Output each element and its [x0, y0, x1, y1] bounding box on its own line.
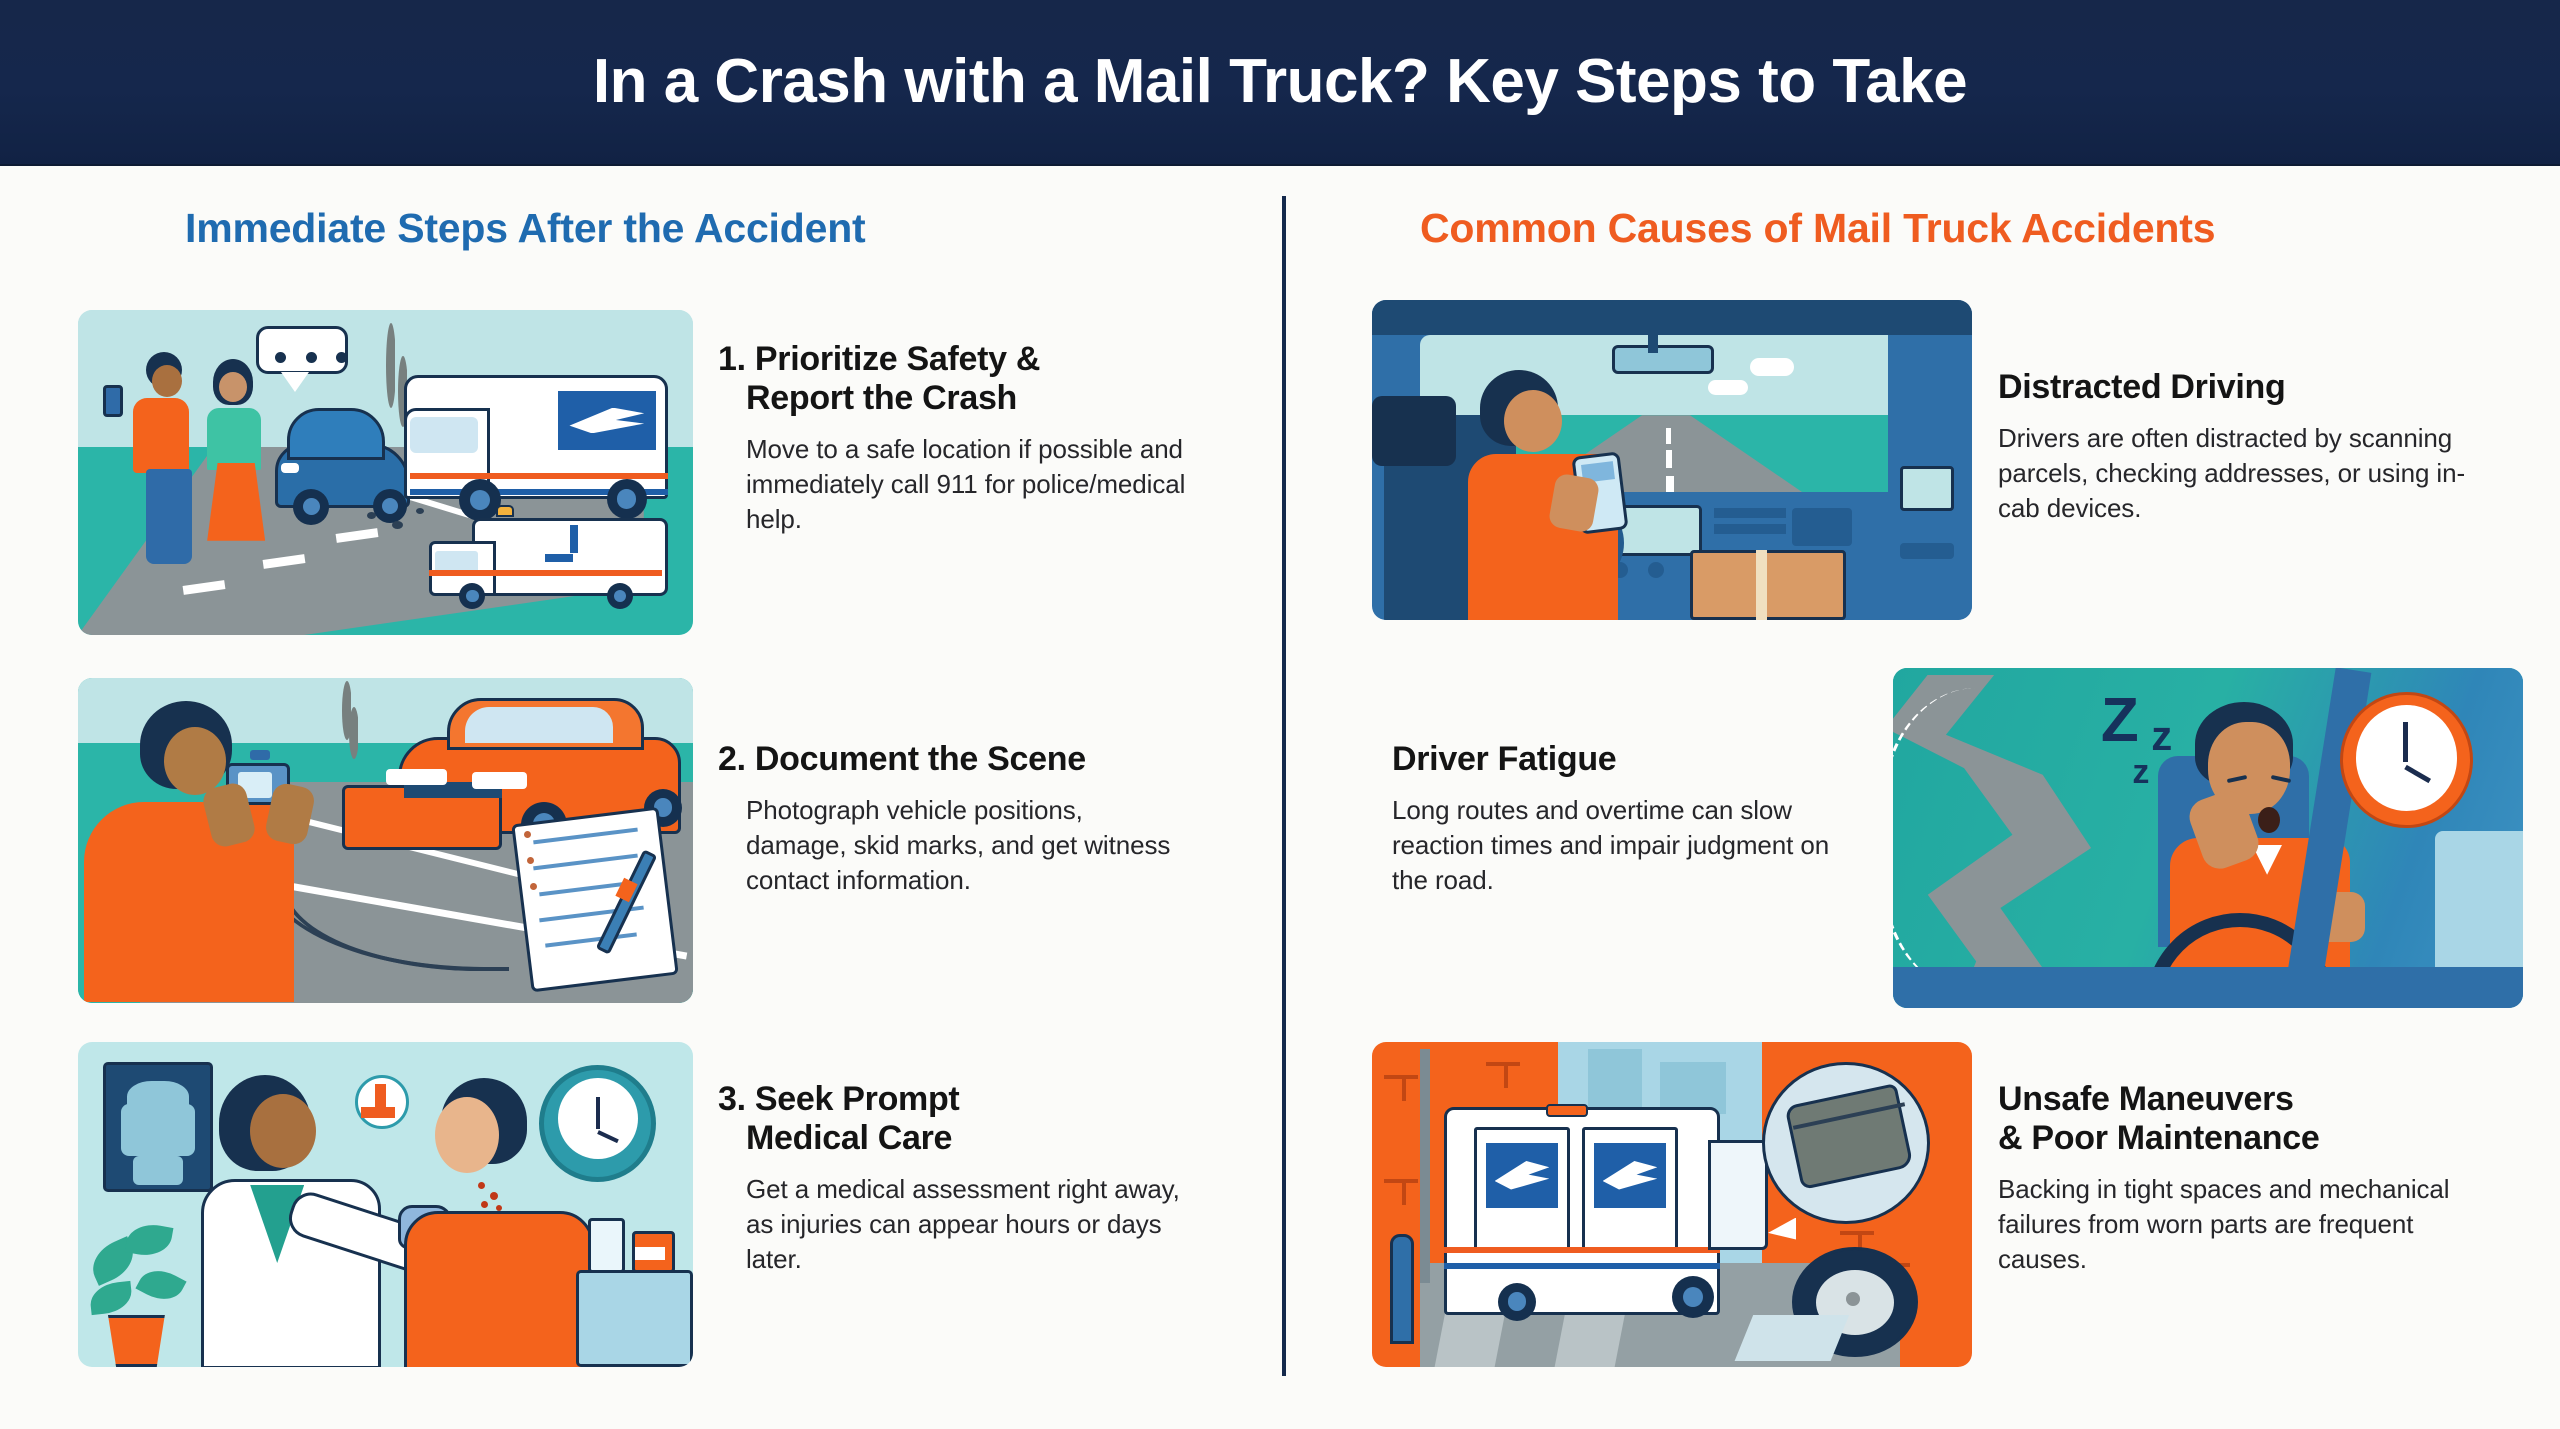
left-item-3-text: 3. Seek Prompt Medical Care Get a medica… [718, 1080, 1188, 1278]
page-title: In a Crash with a Mail Truck? Key Steps … [593, 51, 1967, 113]
right-item-1-text: Distracted Driving Drivers are often dis… [1998, 368, 2498, 527]
right-item-3-title-line2: & Poor Maintenance [1998, 1119, 2319, 1157]
right-item-3-body: Backing in tight spaces and mechanical f… [1998, 1172, 2498, 1278]
illustration-medical-care [78, 1042, 693, 1367]
illustration-crash-scene [78, 310, 693, 635]
column-divider [1282, 196, 1286, 1376]
right-item-2-text: Driver Fatigue Long routes and overtime … [1392, 740, 1862, 899]
right-item-3-title-line1: Unsafe Maneuvers [1998, 1080, 2294, 1118]
usps-eagle-logo-rear-right [1594, 1143, 1666, 1208]
illustration-unsafe-maneuvers [1372, 1042, 1972, 1367]
left-item-3-title-line1: 3. Seek Prompt [718, 1080, 959, 1118]
usps-eagle-logo-rear-left [1486, 1143, 1558, 1208]
left-item-1-body: Move to a safe location if possible and … [718, 432, 1188, 538]
sleep-z-large: Z [2101, 685, 2139, 756]
right-column-heading: Common Causes of Mail Truck Accidents [1420, 205, 2215, 252]
sleep-z-medium: z [2151, 712, 2172, 760]
illustration-driver-fatigue: Z z z [1893, 668, 2523, 1008]
left-item-2-text: 2. Document the Scene Photograph vehicle… [718, 740, 1188, 899]
illustration-document-scene [78, 678, 693, 1003]
sleep-z-small: z [2132, 753, 2149, 792]
left-item-2-body: Photograph vehicle positions, damage, sk… [718, 793, 1188, 899]
right-item-1-title-line1: Distracted Driving [1998, 368, 2285, 406]
left-item-1-text: 1. Prioritize Safety & Report the Crash … [718, 340, 1188, 538]
left-item-3-body: Get a medical assessment right away, as … [718, 1172, 1188, 1278]
left-item-3-title-line2: Medical Care [718, 1119, 952, 1157]
speech-bubble-icon [256, 326, 348, 374]
left-item-1-title-line1: 1. Prioritize Safety & [718, 340, 1040, 378]
infographic-page: In a Crash with a Mail Truck? Key Steps … [0, 0, 2560, 1429]
page-header: In a Crash with a Mail Truck? Key Steps … [0, 0, 2560, 166]
illustration-distracted-driving [1372, 300, 1972, 620]
left-column-heading: Immediate Steps After the Accident [185, 205, 866, 252]
left-item-1-title-line2: Report the Crash [718, 379, 1017, 417]
right-item-3-text: Unsafe Maneuvers & Poor Maintenance Back… [1998, 1080, 2498, 1278]
right-item-2-body: Long routes and overtime can slow reacti… [1392, 793, 1862, 899]
left-item-2-title-line1: 2. Document the Scene [718, 740, 1086, 778]
right-item-1-body: Drivers are often distracted by scanning… [1998, 421, 2498, 527]
usps-eagle-logo [558, 391, 656, 450]
right-item-2-title-line1: Driver Fatigue [1392, 740, 1616, 778]
